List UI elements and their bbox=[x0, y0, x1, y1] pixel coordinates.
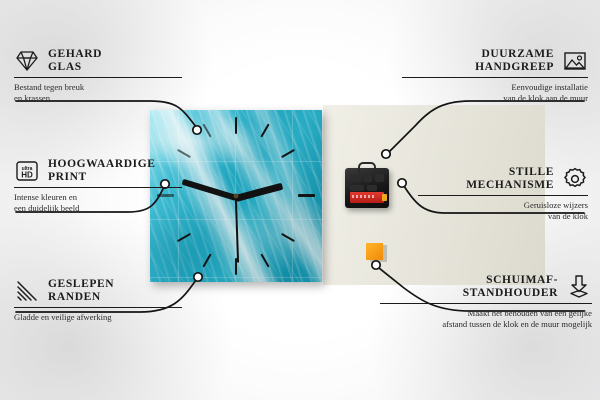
feature-header: DUURZAME HANDGREEP bbox=[402, 48, 588, 74]
ultra-hd-icon: ultra HD bbox=[14, 158, 40, 184]
svg-text:HD: HD bbox=[21, 171, 33, 180]
press-down-icon bbox=[566, 274, 592, 300]
connector-dot-foam bbox=[372, 261, 380, 269]
connector-dot-gehard-glas bbox=[193, 126, 201, 134]
feature-description: Bestand tegen breuk en krassen bbox=[14, 82, 182, 104]
feature-title: DUURZAME HANDGREEP bbox=[475, 48, 554, 74]
feature-description: Eenvoudige installatie van de klok aan d… bbox=[402, 82, 588, 104]
feature-divider bbox=[418, 195, 588, 196]
beveled-edge-icon bbox=[14, 278, 40, 304]
feature-title: HOOGWAARDIGE PRINT bbox=[48, 158, 156, 184]
connector-handgreep bbox=[389, 101, 584, 152]
feature-header: GEHARD GLAS bbox=[14, 48, 182, 74]
connector-dot-randen bbox=[194, 273, 202, 281]
feature-description: Maakt het behouden van een gelijke afsta… bbox=[380, 308, 592, 330]
connector-dot-mechanisme bbox=[398, 179, 406, 187]
feature-divider bbox=[14, 77, 182, 78]
feature-description: Intense kleuren en een duidelijk beeld bbox=[14, 192, 182, 214]
feature-header: GESLEPEN RANDEN bbox=[14, 278, 182, 304]
connector-dot-handgreep bbox=[382, 150, 390, 158]
feature-hoogwaardige-print: ultra HD HOOGWAARDIGE PRINT Intense kleu… bbox=[14, 158, 182, 214]
feature-description: Gladde en veilige afwerking bbox=[14, 312, 182, 323]
feature-duurzame-handgreep: DUURZAME HANDGREEP Eenvoudige installati… bbox=[402, 48, 588, 104]
feature-geslepen-randen: GESLEPEN RANDEN Gladde en veilige afwerk… bbox=[14, 278, 182, 323]
feature-divider bbox=[14, 307, 182, 308]
feature-stille-mechanisme: STILLE MECHANISME Geruisloze wijzers van… bbox=[418, 166, 588, 222]
feature-title: GESLEPEN RANDEN bbox=[48, 278, 114, 304]
feature-divider bbox=[380, 303, 592, 304]
picture-frame-icon bbox=[562, 48, 588, 74]
feature-title: SCHUIMAF- STANDHOUDER bbox=[463, 274, 558, 300]
gear-icon bbox=[562, 166, 588, 192]
feature-header: STILLE MECHANISME bbox=[418, 166, 588, 192]
feature-description: Geruisloze wijzers van de klok bbox=[418, 200, 588, 222]
feature-schuimafstandhouder: SCHUIMAF- STANDHOUDER Maakt het behouden… bbox=[380, 274, 592, 330]
feature-title: STILLE MECHANISME bbox=[466, 166, 554, 192]
feature-divider bbox=[14, 187, 182, 188]
product-infographic: GEHARD GLAS Bestand tegen breuk en krass… bbox=[0, 0, 600, 400]
feature-divider bbox=[402, 77, 588, 78]
feature-gehard-glas: GEHARD GLAS Bestand tegen breuk en krass… bbox=[14, 48, 182, 104]
feature-header: ultra HD HOOGWAARDIGE PRINT bbox=[14, 158, 182, 184]
feature-header: SCHUIMAF- STANDHOUDER bbox=[380, 274, 592, 300]
diamond-icon bbox=[14, 48, 40, 74]
feature-title: GEHARD GLAS bbox=[48, 48, 102, 74]
connector-gehard-glas bbox=[16, 101, 197, 128]
